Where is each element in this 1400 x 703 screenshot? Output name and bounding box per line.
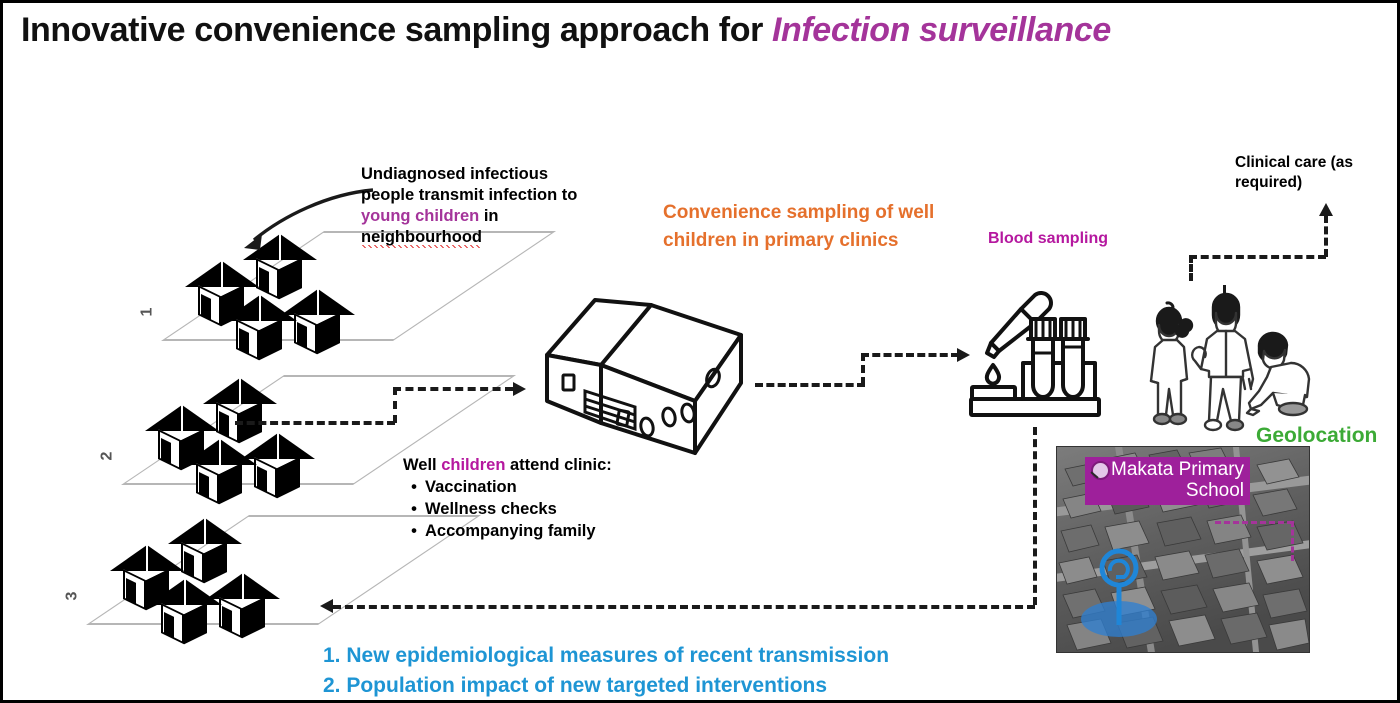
conclusions-block: 1. New epidemiological measures of recen…: [323, 641, 1083, 702]
connector-clinic-to-blood-lower: [755, 383, 865, 387]
house-wall-right: [317, 313, 340, 354]
page-title: Innovative convenience sampling approach…: [21, 11, 1385, 61]
house-ridge: [239, 378, 241, 404]
house-ridge: [317, 289, 319, 315]
children-illustration: [1125, 285, 1330, 440]
house-door: [201, 294, 211, 320]
map-label-line-1: Makata Primary: [1111, 459, 1244, 480]
transmit-misspelled-word: neighbourhood: [361, 228, 482, 248]
connector-feedback-loop: [333, 605, 1035, 609]
well-children-lead: Well children attend clinic:: [403, 455, 703, 476]
transmit-curved-arrow: [228, 178, 378, 263]
transmit-line-3-tail: in: [479, 207, 498, 225]
label-clinical-care: Clinical care (as required): [1235, 153, 1375, 193]
house-door: [184, 551, 194, 577]
house-body: [161, 603, 209, 633]
lead-post: attend clinic:: [505, 456, 611, 474]
neighbourhood-panel-3: 3: [28, 515, 328, 645]
house-door: [257, 466, 267, 492]
panel-number: 2: [98, 452, 116, 461]
bullet-icon: •: [403, 499, 425, 520]
house-body: [181, 542, 229, 572]
panel-number: 1: [138, 308, 156, 317]
house-wall-right: [219, 463, 242, 504]
map-label-makata-school: Makata Primary School: [1085, 457, 1250, 505]
house-icon: [223, 293, 297, 367]
house-ridge: [242, 573, 244, 599]
arrowhead-feedback-loop: [320, 599, 333, 613]
annotation-transmission: Undiagnosed infectious people transmit i…: [361, 164, 596, 248]
list-item: • Wellness checks: [403, 499, 703, 520]
transmit-line-2: people transmit infection to: [361, 185, 596, 206]
geolocation-connector-vertical: [1291, 521, 1294, 561]
conclusion-item-2: 2. Population impact of new targeted int…: [323, 671, 1083, 701]
house-ridge: [221, 261, 223, 287]
connector-clinic-to-blood-riser: [861, 353, 865, 385]
house-ridge: [259, 295, 261, 321]
label-blood-sampling: Blood sampling: [988, 229, 1108, 249]
lead-highlight: children: [441, 456, 505, 474]
house-body: [219, 597, 267, 627]
list-item-label: Wellness checks: [425, 499, 557, 520]
house-body: [236, 319, 284, 349]
house-body: [294, 313, 342, 343]
house-icon: [148, 577, 222, 651]
connector-panels-to-clinic-riser: [393, 387, 397, 423]
house-wall-right: [184, 603, 207, 644]
bullet-icon: •: [403, 521, 425, 542]
list-item: • Accompanying family: [403, 521, 703, 542]
pin-circle-icon: [1091, 461, 1110, 480]
house-body: [216, 402, 264, 432]
house-door: [164, 612, 174, 638]
list-item: • Vaccination: [403, 477, 703, 498]
annotation-well-children: Well children attend clinic: • Vaccinati…: [403, 455, 703, 542]
house-door: [126, 578, 136, 604]
house-ridge: [204, 518, 206, 544]
transmit-highlight: young children: [361, 207, 479, 225]
connector-clinical-care-riser: [1324, 215, 1328, 257]
house-door: [219, 411, 229, 437]
house-door: [222, 606, 232, 632]
house-body: [196, 463, 244, 493]
title-main: Innovative convenience sampling approach…: [21, 11, 772, 49]
house-ridge: [146, 545, 148, 571]
lead-pre: Well: [403, 456, 441, 474]
house-door: [259, 267, 269, 293]
house-door: [239, 328, 249, 354]
house-door: [199, 472, 209, 498]
house-ridge: [277, 433, 279, 459]
connector-clinical-care-drop: [1189, 255, 1193, 281]
house-wall-right: [259, 319, 282, 360]
connector-panels-to-clinic-lower: [235, 421, 395, 425]
house-icon: [183, 437, 257, 511]
conclusion-item-1: 1. New epidemiological measures of recen…: [323, 641, 1083, 671]
house-wall-right: [277, 457, 300, 498]
connector-panels-to-clinic-upper: [393, 387, 513, 391]
connector-blood-to-map: [1033, 427, 1037, 605]
aerial-map-image[interactable]: Makata Primary School: [1056, 446, 1310, 653]
transmit-line-3: young children in: [361, 206, 596, 227]
geolocation-connector-horizontal: [1215, 521, 1293, 524]
bullet-icon: •: [403, 477, 425, 498]
panel-number: 3: [63, 592, 81, 601]
house-wall-right: [242, 597, 265, 638]
transmit-line-4: neighbourhood: [361, 227, 596, 248]
figure-canvas: Innovative convenience sampling approach…: [0, 0, 1400, 703]
label-convenience-sampling: Convenience sampling of well children in…: [663, 199, 943, 254]
house-ridge: [219, 439, 221, 465]
clinic-building-illustration: [523, 283, 773, 458]
title-emphasis: Infection surveillance: [772, 11, 1111, 49]
list-item-label: Accompanying family: [425, 521, 596, 542]
blood-sampling-illustration: [963, 275, 1118, 430]
house-ridge: [184, 579, 186, 605]
neighbourhood-panel-2: 2: [63, 375, 363, 505]
map-label-line-2: School: [1111, 480, 1244, 501]
house-body: [254, 457, 302, 487]
list-item-label: Vaccination: [425, 477, 517, 498]
house-ridge: [181, 405, 183, 431]
house-door: [297, 322, 307, 348]
house-door: [161, 438, 171, 464]
transmit-line-1: Undiagnosed infectious: [361, 164, 596, 185]
connector-clinical-care-horizontal: [1189, 255, 1326, 259]
connector-clinic-to-blood-upper: [861, 353, 959, 357]
